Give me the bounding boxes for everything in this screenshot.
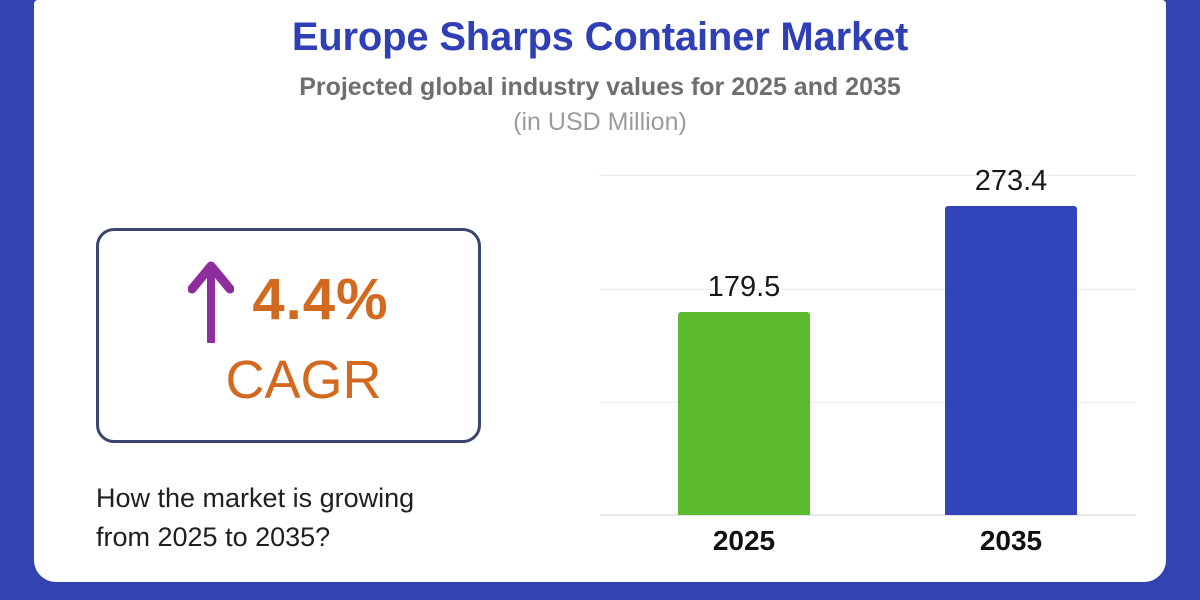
x-axis-tick-2025: 2025 [678, 527, 810, 555]
plot-area: 179.5 273.4 [600, 165, 1136, 515]
cagr-value-row: 4.4% [99, 257, 478, 343]
arrow-up-icon [188, 257, 234, 343]
cagr-box: 4.4% CAGR [96, 228, 481, 443]
bar-2035[interactable] [945, 206, 1077, 515]
cagr-value: 4.4% [252, 271, 388, 329]
bars-container: 179.5 273.4 [600, 165, 1136, 515]
cagr-label: CAGR [99, 353, 478, 407]
infographic-card: Europe Sharps Container Market Projected… [34, 0, 1166, 582]
subtitle: Projected global industry values for 202… [34, 71, 1166, 105]
x-axis-tick-2035: 2035 [945, 527, 1077, 555]
page-title: Europe Sharps Container Market [34, 14, 1166, 60]
axis-line [600, 515, 1136, 516]
bar-2025[interactable] [678, 312, 810, 515]
caption-line-2: from 2025 to 2035? [96, 518, 496, 557]
bar-chart: 179.5 273.4 2025 2035 [600, 165, 1136, 560]
x-axis: 2025 2035 [600, 527, 1136, 567]
units-label: (in USD Million) [34, 107, 1166, 138]
infographic-stage: Europe Sharps Container Market Projected… [0, 0, 1200, 600]
bar-value-label: 179.5 [678, 273, 810, 302]
bar-group: 273.4 [945, 165, 1077, 515]
bar-group: 179.5 [678, 165, 810, 515]
bar-value-label: 273.4 [945, 167, 1077, 196]
caption-line-1: How the market is growing [96, 479, 496, 518]
cagr-panel: 4.4% CAGR How the market is growing from… [96, 228, 516, 557]
header: Europe Sharps Container Market Projected… [34, 0, 1166, 138]
growth-caption: How the market is growing from 2025 to 2… [96, 479, 496, 557]
